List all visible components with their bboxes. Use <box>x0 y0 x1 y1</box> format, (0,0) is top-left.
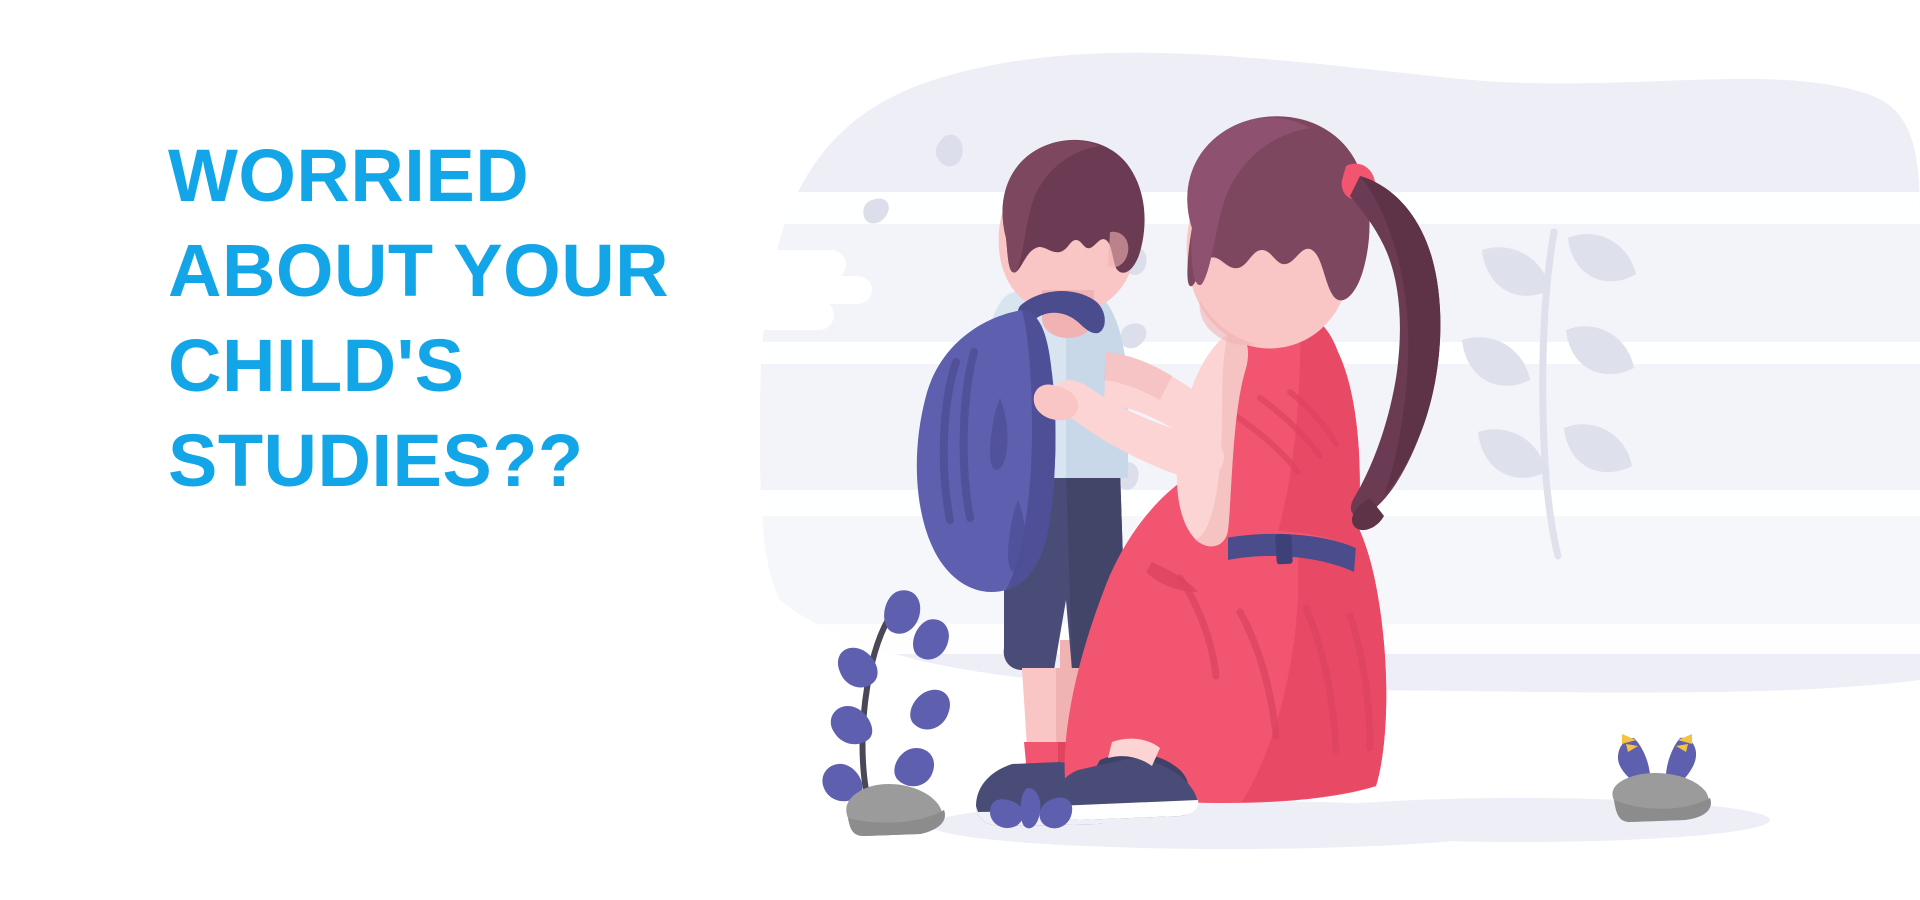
plant-right <box>1612 734 1711 822</box>
headline-line-3: CHILD'S <box>168 318 788 413</box>
promo-banner: WORRIED ABOUT YOUR CHILD'S STUDIES?? <box>0 0 1920 900</box>
headline-line-4: STUDIES?? <box>168 413 788 508</box>
hero-illustration <box>760 0 1920 900</box>
headline-line-2: ABOUT YOUR <box>168 223 788 318</box>
headline-line-1: WORRIED <box>168 128 788 223</box>
page-title: WORRIED ABOUT YOUR CHILD'S STUDIES?? <box>168 128 788 508</box>
